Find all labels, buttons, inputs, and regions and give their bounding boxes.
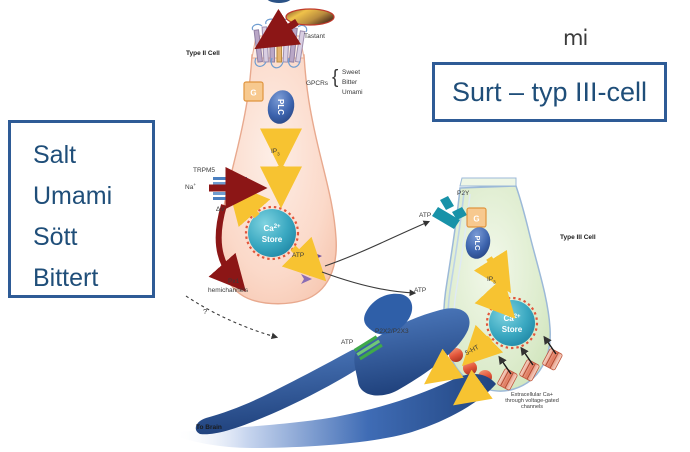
label-tastant: Tastant	[304, 33, 325, 40]
arrow-ca-influx-2	[522, 349, 533, 365]
arrow-ca-influx-3	[545, 338, 556, 354]
mi-watermark: mi	[563, 26, 587, 50]
label-px1: Px1	[228, 278, 239, 285]
label-gpcr-bitter: Bitter	[342, 79, 357, 86]
label-ip3-type-ii: IP3	[271, 148, 280, 156]
slide-canvas: G PLC Ca2+ Store	[0, 0, 690, 452]
label-atp-type-iii: ATP	[419, 212, 431, 219]
arrow-ip3-to-store-iii	[489, 290, 500, 302]
label-atp-middle: ATP	[414, 287, 426, 294]
arrow-plc-to-ip3-iii	[489, 258, 499, 274]
arrow-store-to-vesicles	[478, 338, 490, 350]
sour-type-three-box[interactable]: Surt – typ III-cell	[432, 62, 667, 122]
arrow-depolarization	[219, 205, 232, 276]
label-trpm5: TRPM5	[193, 167, 215, 174]
taste-quality-salt: Salt	[33, 135, 152, 176]
arrow-ca-influx-1	[500, 358, 511, 374]
label-ip3-type-iii: IP3	[487, 276, 496, 284]
vgcc-line-3: channels	[521, 404, 543, 410]
arrow-atp-unknown	[186, 296, 276, 337]
label-p2x-receptors: P2X2/P2X3	[375, 328, 409, 335]
label-type-ii-cell: Type II Cell	[186, 50, 220, 57]
label-vgcc-note: Extracellular Ca+ through voltage-gated …	[478, 392, 586, 410]
label-sodium: Na+	[185, 182, 196, 191]
label-px1-hemichannels: hemichannels	[208, 287, 248, 294]
label-atp-bottom: ATP	[341, 339, 353, 346]
tastant-arrow	[275, 22, 297, 36]
arrow-vesicle-release-1	[441, 364, 452, 372]
sour-type-three-label: Surt – typ III-cell	[452, 77, 647, 108]
taste-qualities-box[interactable]: Salt Umami Sött Bittert	[8, 120, 155, 298]
taste-quality-bittert: Bittert	[33, 258, 152, 299]
label-gpcr-sweet: Sweet	[342, 69, 360, 76]
label-p2y: P2Y	[457, 190, 469, 197]
gpcr-brace-icon: {	[332, 68, 338, 87]
taste-quality-umami: Umami	[33, 176, 152, 217]
arrow-atp-right	[322, 272, 414, 293]
arrow-atp-to-type-iii	[325, 222, 428, 266]
label-to-brain: To Brain	[196, 424, 222, 431]
label-delta-v: ΔV	[216, 206, 225, 213]
label-gpcrs: GPCRs	[306, 80, 328, 87]
taste-quality-sott: Sött	[33, 217, 152, 258]
label-unknown-question: ?	[203, 307, 207, 316]
label-gpcr-umami: Umami	[342, 89, 363, 96]
label-type-iii-cell: Type III Cell	[560, 234, 596, 241]
arrow-store-to-trpm5	[243, 200, 257, 216]
label-atp-type-ii: ATP	[292, 252, 304, 259]
